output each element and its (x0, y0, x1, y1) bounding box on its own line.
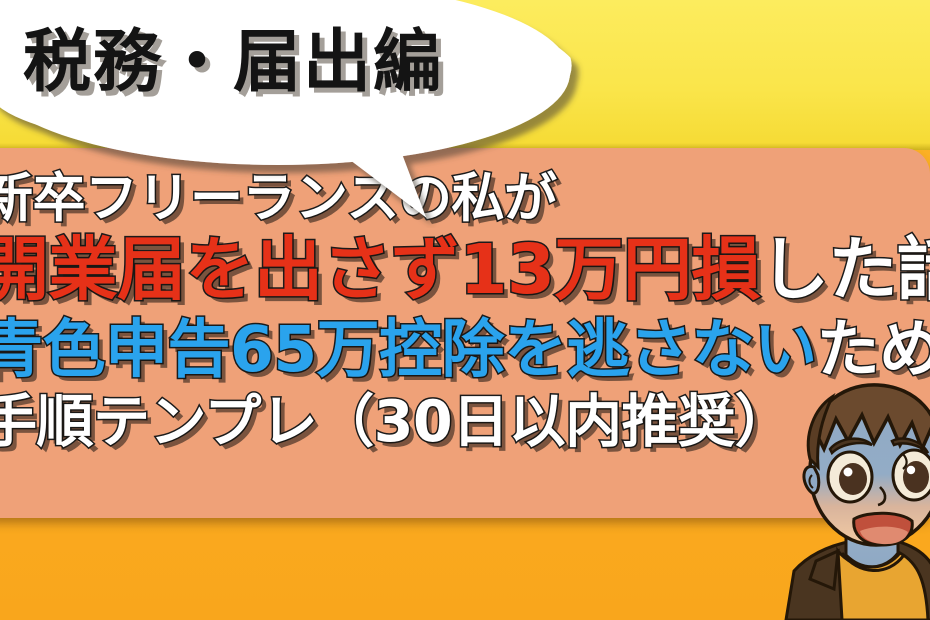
headline-line-3-highlight: 青色申告65万控除を逃さない (0, 313, 817, 386)
youtube-thumbnail: 新卒フリーランスの私が 開業届を出さず13万円損した話！ 青色申告65万控除を逃… (0, 0, 930, 620)
category-badge-label: 税務・届出編 (0, 6, 468, 105)
character-head (804, 385, 930, 545)
headline-line-2-highlight: 開業届を出さず13万円損 (0, 230, 760, 310)
headline-line-4-text: 手順テンプレ（30日以内推奨） (0, 389, 791, 455)
character-svg (776, 375, 930, 620)
headline-line-2: 開業届を出さず13万円損した話！ (0, 236, 930, 318)
category-badge-bubble: 税務・届出編 (0, 0, 600, 228)
headline-line-2-tail: した話！ (760, 230, 930, 310)
shocked-man-illustration (776, 375, 930, 620)
